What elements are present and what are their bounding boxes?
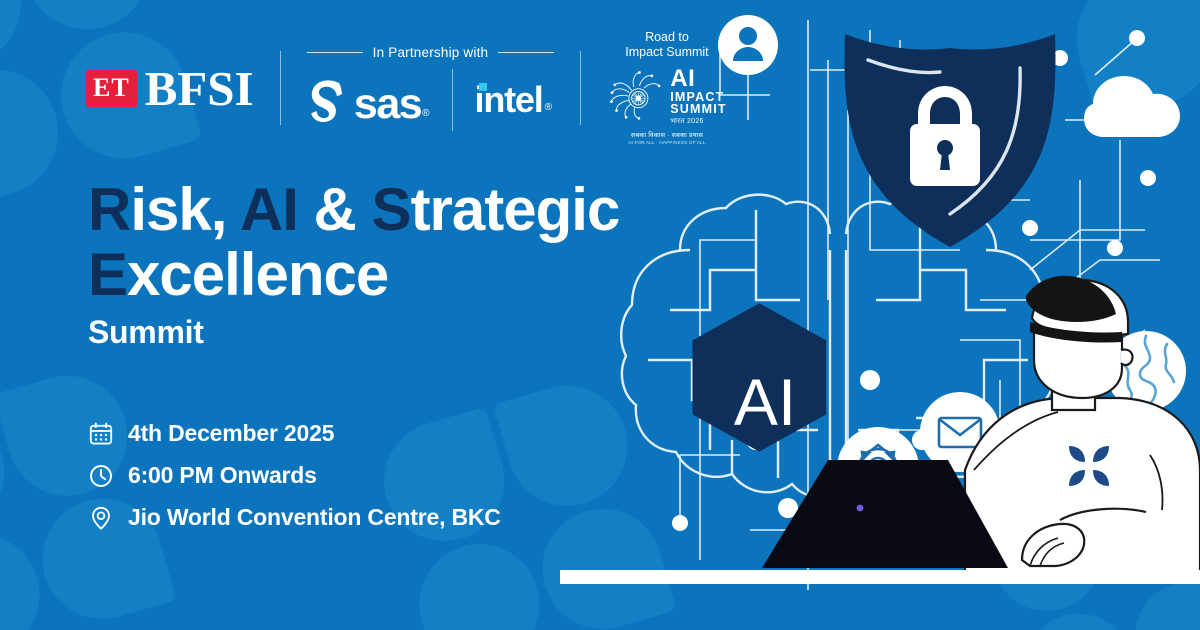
logo-divider [280, 51, 281, 125]
partnership-label-row: In Partnership with [307, 45, 555, 60]
bfsi-wordmark: BFSI [145, 64, 254, 113]
headline-seg: AI [240, 176, 298, 243]
event-date: 4th December 2025 [128, 420, 334, 447]
security-shield-lock-icon [845, 34, 1056, 247]
sas-swirl-icon [309, 77, 353, 123]
event-details: 4th December 2025 6:00 PM Onwards Jio Wo… [88, 420, 501, 546]
event-time: 6:00 PM Onwards [128, 462, 317, 489]
user-avatar-icon [718, 15, 778, 75]
partnership-block: In Partnership with sas ® intel ® [307, 45, 555, 131]
headline-seg: S [372, 176, 411, 243]
intel-dot-icon [479, 83, 487, 91]
calendar-icon [88, 421, 114, 447]
ai-security-illustration: AI [560, 0, 1200, 630]
detail-row-venue: Jio World Convention Centre, BKC [88, 504, 501, 531]
rule-right [498, 52, 554, 53]
event-venue: Jio World Convention Centre, BKC [128, 504, 501, 531]
partner-logos: sas ® intel ® [309, 69, 552, 131]
detail-row-time: 6:00 PM Onwards [88, 462, 501, 489]
et-badge: ET [86, 70, 137, 107]
clock-icon [88, 463, 114, 489]
partner-divider [452, 69, 453, 131]
sas-wordmark: sas [354, 86, 421, 123]
event-banner: ET BFSI In Partnership with sas ® [0, 0, 1200, 630]
partnership-label: In Partnership with [373, 45, 489, 60]
headline-seg: xcellence [127, 241, 388, 308]
et-bfsi-logo[interactable]: ET BFSI [86, 64, 254, 113]
ai-badge-label: AI [734, 365, 796, 439]
headline-seg: & [298, 176, 372, 243]
location-pin-icon [88, 505, 114, 531]
intel-logo[interactable]: intel ® [475, 84, 552, 116]
headline-seg: isk, [130, 176, 240, 243]
headline-seg: E [88, 241, 127, 308]
headline-subtitle: Summit [88, 314, 619, 351]
headline-line-1: Risk, AI & Strategic [88, 178, 619, 243]
headline-line-2: Excellence [88, 243, 619, 308]
detail-row-date: 4th December 2025 [88, 420, 501, 447]
rule-left [307, 52, 363, 53]
hero-headline: Risk, AI & Strategic Excellence Summit [88, 178, 619, 351]
sas-logo[interactable]: sas ® [309, 77, 430, 123]
intel-registered-mark: ® [545, 102, 552, 113]
illustration-canvas: AI [560, 0, 1200, 630]
headline-seg: R [88, 176, 130, 243]
sas-registered-mark: ® [422, 108, 429, 119]
cloud-icon [1084, 76, 1180, 137]
